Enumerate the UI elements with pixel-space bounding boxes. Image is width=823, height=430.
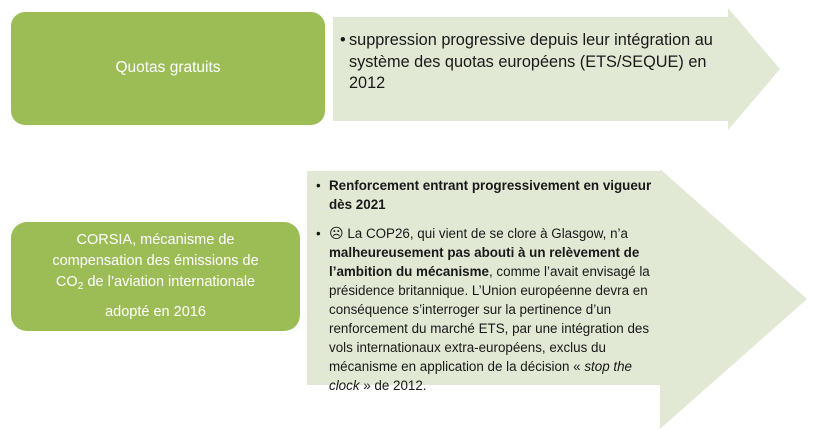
arrow-corsia-bullet-2-seg3: , comme l’avait envisagé la présidence b… bbox=[329, 264, 650, 374]
frowning-face-icon: ☹ bbox=[329, 225, 344, 241]
bullet-icon: • bbox=[316, 176, 321, 195]
arrow-quotas-text-block: • suppression progressive depuis leur in… bbox=[340, 30, 740, 95]
label-box-quotas-gratuits[interactable]: Quotas gratuits bbox=[11, 12, 325, 125]
bullet-icon: • bbox=[316, 224, 321, 243]
corsia-line-3: CO2 de l’aviation internationale bbox=[56, 274, 255, 290]
arrow-corsia-bullet-list: • Renforcement entrant progressivement e… bbox=[315, 176, 663, 395]
arrow-corsia-bullet-2-seg1: La COP26, qui vient de se clore à Glasgo… bbox=[344, 226, 628, 241]
corsia-line-3-rest: de l’aviation internationale bbox=[83, 274, 255, 290]
corsia-co2-prefix: CO bbox=[56, 274, 78, 290]
corsia-line-4: adopté en 2016 bbox=[105, 304, 206, 320]
arrow-corsia-text-block: • Renforcement entrant progressivement e… bbox=[315, 176, 663, 395]
arrow-quotas-body-text: suppression progressive depuis leur inté… bbox=[349, 31, 713, 92]
arrow-quotas-gratuits[interactable]: • suppression progressive depuis leur in… bbox=[333, 8, 780, 130]
corsia-line-2: compensation des émissions de bbox=[52, 253, 258, 269]
label-box-quotas-gratuits-text: Quotas gratuits bbox=[115, 57, 220, 79]
list-item: • Renforcement entrant progressivement e… bbox=[315, 176, 663, 214]
slide-canvas: Quotas gratuits • suppression progressiv… bbox=[0, 0, 823, 430]
list-item: • ☹ La COP26, qui vient de se clore à Gl… bbox=[315, 224, 663, 395]
label-box-corsia-text: CORSIA, mécanisme de compensation des ém… bbox=[25, 230, 286, 322]
corsia-line-1: CORSIA, mécanisme de bbox=[77, 232, 235, 248]
arrow-corsia-bullet-2-seg5: » de 2012. bbox=[360, 378, 427, 393]
corsia-line-gap bbox=[25, 295, 286, 302]
arrow-corsia[interactable]: • Renforcement entrant progressivement e… bbox=[307, 169, 807, 429]
arrow-corsia-bullet-1-text: Renforcement entrant progressivement en … bbox=[329, 178, 651, 212]
bullet-icon: • bbox=[340, 30, 346, 52]
label-box-corsia[interactable]: CORSIA, mécanisme de compensation des ém… bbox=[11, 222, 300, 331]
